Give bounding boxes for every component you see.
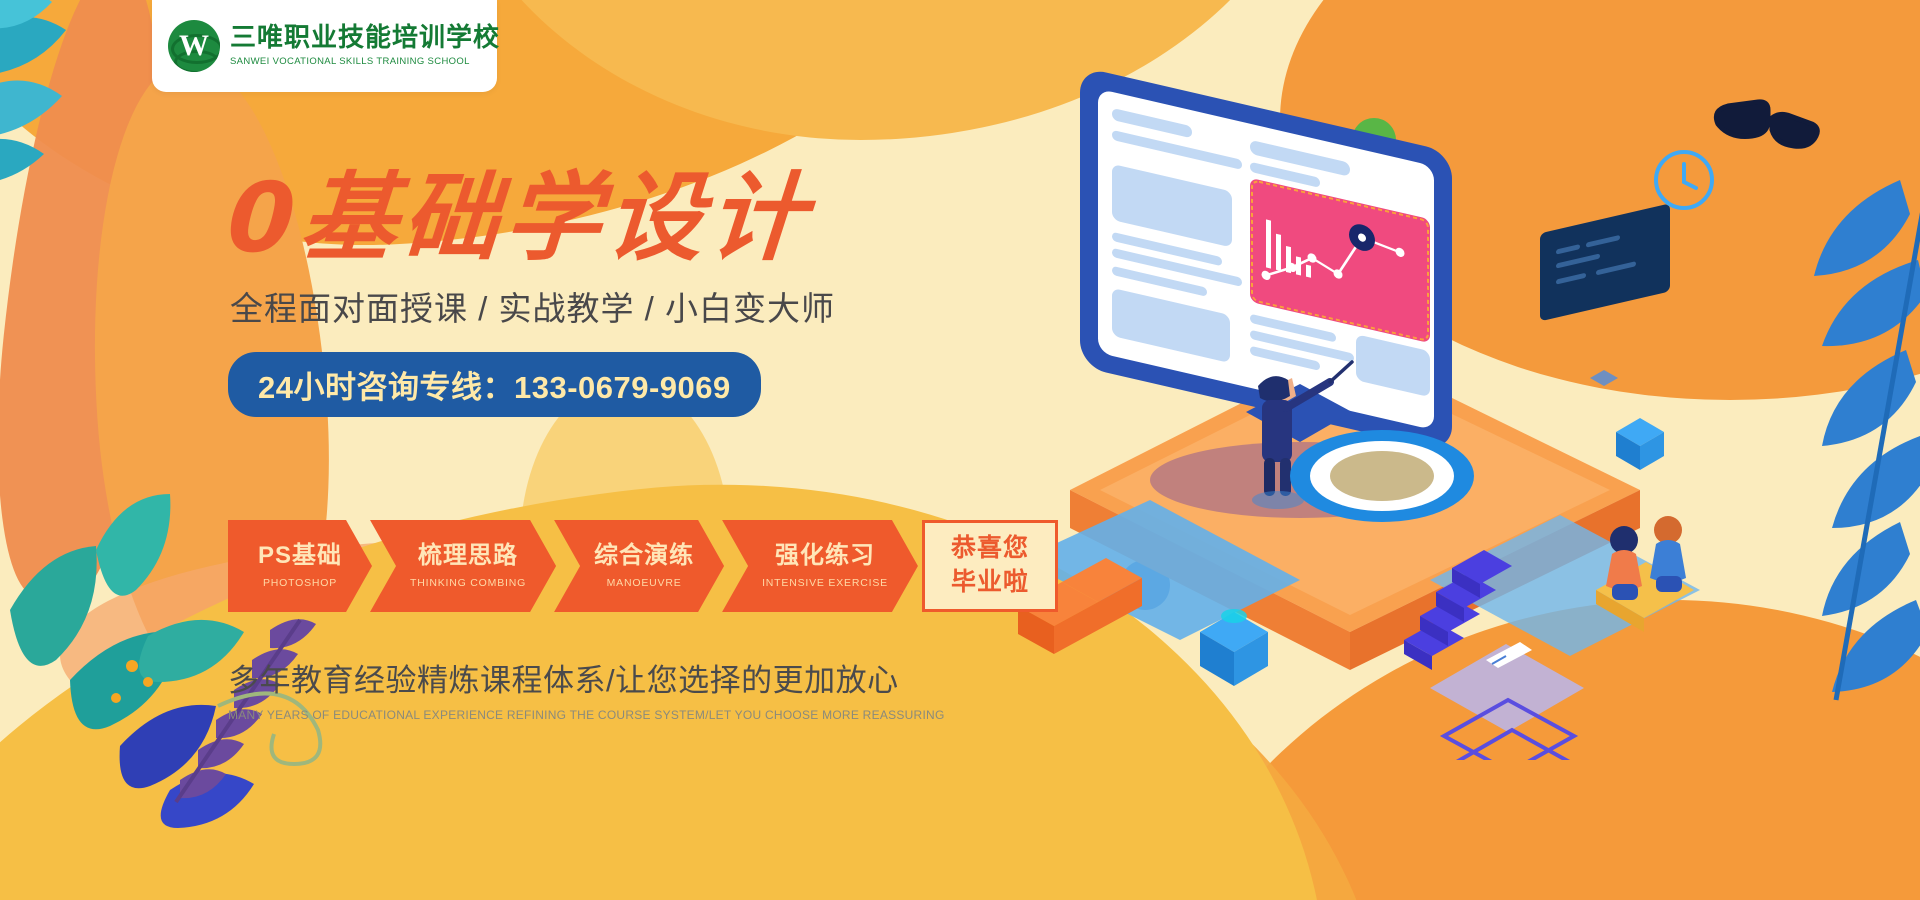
step-item-4[interactable]: 强化练习 INTENSIVE EXERCISE [722,520,918,612]
course-steps: PS基础 PHOTOSHOP 梳理思路 THINKING COMBING 综合演… [228,520,1056,612]
step-item-1[interactable]: PS基础 PHOTOSHOP [228,520,372,612]
tagline-cn: 多年教育经验精炼课程体系/让您选择的更加放心 [228,655,945,700]
hero-subtitle: 全程面对面授课 / 实战教学 / 小白变大师 [230,282,988,330]
logo-letter: W [179,31,209,61]
step-label-cn: 梳理思路 [418,543,518,569]
glass-table-icon [1430,642,1584,760]
graduation-line-1: 恭喜您 [951,532,1029,566]
cube-small-icon [1616,418,1664,470]
round-rug-icon [1290,430,1474,522]
brand-logo-text: 三唯职业技能培训学校 SANWEI VOCATIONAL SKILLS TRAI… [230,23,500,68]
banner-root: W 三唯职业技能培训学校 SANWEI VOCATIONAL SKILLS TR… [0,0,1920,900]
hero-illustration [1000,60,1700,760]
w-monogram-icon: W [168,20,220,72]
step-label-en: THINKING COMBING [410,577,526,589]
step-label-cn: 强化练习 [775,543,875,569]
graduation-line-2: 毕业啦 [951,566,1029,600]
step-item-3[interactable]: 综合演练 MANOEUVRE [554,520,724,612]
footer-tagline: 多年教育经验精炼课程体系/让您选择的更加放心 MANY YEARS OF EDU… [228,655,945,722]
step-label-en: INTENSIVE EXERCISE [762,577,888,589]
step-item-2[interactable]: 梳理思路 THINKING COMBING [370,520,556,612]
step-label-en: PHOTOSHOP [263,577,337,589]
hotline-button[interactable]: 24小时咨询专线：133-0679-9069 [228,352,761,417]
tagline-en: MANY YEARS OF EDUCATIONAL EXPERIENCE REF… [228,708,945,722]
step-item-graduation[interactable]: 恭喜您 毕业啦 [922,520,1058,612]
page-title: 0基础学设计 [225,170,992,266]
brand-name-cn: 三唯职业技能培训学校 [230,23,500,53]
brand-name-en: SANWEI VOCATIONAL SKILLS TRAINING SCHOOL [230,56,500,68]
brand-logo-card[interactable]: W 三唯职业技能培训学校 SANWEI VOCATIONAL SKILLS TR… [152,0,497,92]
tv-screen-icon [1540,203,1670,386]
step-label-cn: PS基础 [258,543,342,569]
step-label-cn: 综合演练 [594,543,694,569]
step-label-en: MANOEUVRE [607,577,682,589]
hero-copy: 0基础学设计 全程面对面授课 / 实战教学 / 小白变大师 24小时咨询专线：1… [228,170,988,417]
